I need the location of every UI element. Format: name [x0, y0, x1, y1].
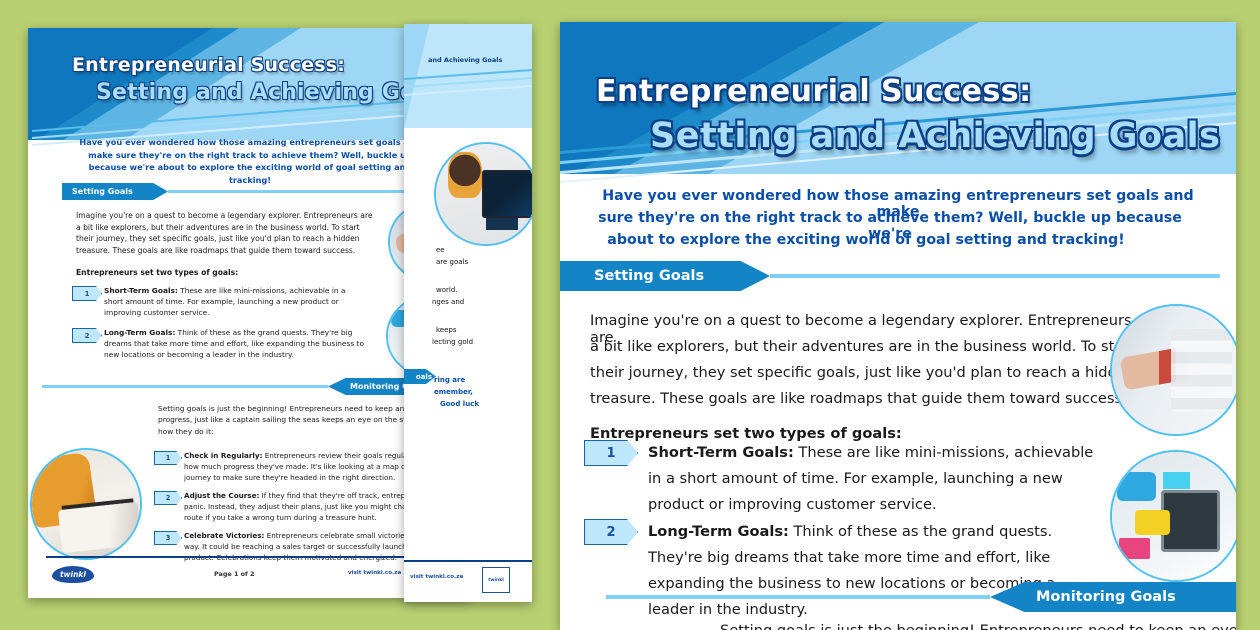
zoom-list-item-1: Short-Term Goals: These are like mini-mi… [648, 440, 1103, 518]
page2-footer: visit twinkl.co.za twinkl [404, 560, 532, 602]
section-chevron: Setting Goals [560, 261, 770, 291]
footer-divider [404, 560, 532, 562]
page1-monitoring-marker-1: 1 [154, 451, 182, 465]
page1-title-line2: Setting and Achieving Goals [96, 80, 452, 105]
section-chevron: oals [404, 369, 436, 384]
page2-header-banner [404, 24, 532, 128]
marker-number: 1 [606, 446, 615, 461]
page1-section-banner-setting-goals: Setting Goals [62, 183, 454, 200]
zoom-section-banner-setting-goals: Setting Goals [560, 261, 1220, 291]
marker-number: 2 [85, 332, 90, 340]
page2-text-fragment-6: lecting gold [432, 338, 473, 346]
zoom-section-banner-monitoring-goals: Monitoring Goals [606, 582, 1236, 612]
page2-text-fragment-7: ring are [434, 376, 465, 384]
person-working-laptop-photo [30, 448, 142, 560]
section-heading-label: Setting Goals [594, 268, 704, 284]
item-term: Short-Term Goals: [104, 286, 178, 295]
page2-text-fragment-1: ee [436, 246, 445, 254]
item-term: Long-Term Goals: [104, 328, 175, 337]
page2-section-banner-fragment: oals [404, 369, 436, 384]
zoom-paragraph-line-2: a bit like explorers, but their adventur… [590, 338, 1150, 355]
photo-fill [436, 144, 532, 244]
item-term: Check in Regularly: [184, 451, 262, 460]
page1-monitoring-marker-2: 2 [154, 491, 182, 505]
section-chevron: Monitoring Goals [990, 582, 1236, 612]
item-term: Celebrate Victories: [184, 531, 264, 540]
page1-setting-goals-item-1: Short-Term Goals: These are like mini-mi… [104, 285, 366, 319]
page2-text-fragment-5: keeps [436, 326, 457, 334]
photo-fill [1112, 452, 1236, 580]
page2-text-fragment-2: are goals [436, 258, 468, 266]
marker-number: 2 [166, 494, 171, 502]
page1-list-marker-1: 1 [72, 286, 102, 301]
calendar-planning-photo [1110, 304, 1236, 436]
worksheet-page-2-thumbnail[interactable]: and Achieving Goals ee are goals world. … [404, 24, 532, 602]
page-number-label: Page 1 of 2 [214, 570, 254, 578]
section-heading-label: Setting Goals [72, 187, 133, 196]
zoom-paragraph-line-4: treasure. These goals are like roadmaps … [590, 390, 1150, 407]
zoom-list-marker-1: 1 [584, 440, 638, 466]
page1-setting-goals-item-2: Long-Term Goals: Think of these as the g… [104, 327, 366, 361]
footer-divider [46, 556, 451, 558]
section-heading-label: oals [416, 373, 432, 381]
page1-title-line1: Entrepreneurial Success: [72, 54, 345, 76]
twinkl-badge: twinkl [482, 567, 510, 593]
worksheet-zoom-preview[interactable]: Entrepreneurial Success: Setting and Ach… [560, 22, 1236, 630]
visit-link[interactable]: visit twinkl.co.za [410, 574, 463, 580]
page1-section-banner-monitoring-goals: Monitoring Goals [42, 378, 454, 395]
marker-number: 2 [606, 525, 615, 540]
item-term: Adjust the Course: [184, 491, 259, 500]
page1-setting-goals-paragraph: Imagine you're on a quest to become a le… [76, 210, 376, 256]
page1-intro-paragraph: Have you ever wondered how those amazing… [68, 136, 432, 186]
zoom-title-line2: Setting and Achieving Goals [650, 116, 1221, 156]
developer-monitors-photo [434, 142, 532, 246]
section-rail [42, 385, 328, 388]
marker-number: 1 [85, 290, 90, 298]
item-term: Long-Term Goals: [648, 523, 789, 540]
section-rail [770, 274, 1220, 278]
zoom-paragraph-line-3: their journey, they set specific goals, … [590, 364, 1150, 381]
zoom-intro-line-3: about to explore the exciting world of g… [566, 232, 1166, 248]
zoom-title-line1: Entrepreneurial Success: [596, 74, 1032, 109]
page1-setting-goals-leadin: Entrepreneurs set two types of goals: [76, 268, 376, 277]
section-rail [606, 595, 990, 599]
marker-number: 3 [166, 534, 171, 542]
page1-monitoring-marker-3: 3 [154, 531, 182, 545]
twinkl-logo: twinkl [52, 566, 94, 583]
item-term: Short-Term Goals: [648, 444, 794, 461]
visit-link[interactable]: visit twinkl.co.za [348, 570, 401, 576]
page2-text-fragment-4: nges and [432, 298, 464, 306]
photo-fill [32, 450, 140, 558]
page2-text-fragment-3: world. [436, 286, 458, 294]
page1-list-marker-2: 2 [72, 328, 102, 343]
worksheet-page-1-thumbnail[interactable]: Entrepreneurial Success: Setting and Ach… [28, 28, 468, 598]
page2-text-fragment-8: emember, [434, 388, 473, 396]
twinkl-logo-text: twinkl [60, 570, 86, 579]
page2-text-fragment-9: Good luck [440, 400, 479, 408]
twinkl-badge-text: twinkl [488, 578, 504, 583]
marker-number: 1 [166, 454, 171, 462]
section-chevron: Setting Goals [62, 183, 168, 200]
section-heading-label: Monitoring Goals [1036, 589, 1176, 605]
zoom-monitoring-paragraph-visible: Setting goals is just the beginning! Ent… [720, 622, 1236, 630]
photo-fill [1112, 306, 1236, 434]
page2-header-title-fragment: and Achieving Goals [428, 56, 502, 64]
zoom-list-marker-2: 2 [584, 519, 638, 545]
page1-footer: twinkl Page 1 of 2 visit twinkl.co.za tw… [28, 556, 468, 598]
social-media-tablet-photo [1110, 450, 1236, 582]
